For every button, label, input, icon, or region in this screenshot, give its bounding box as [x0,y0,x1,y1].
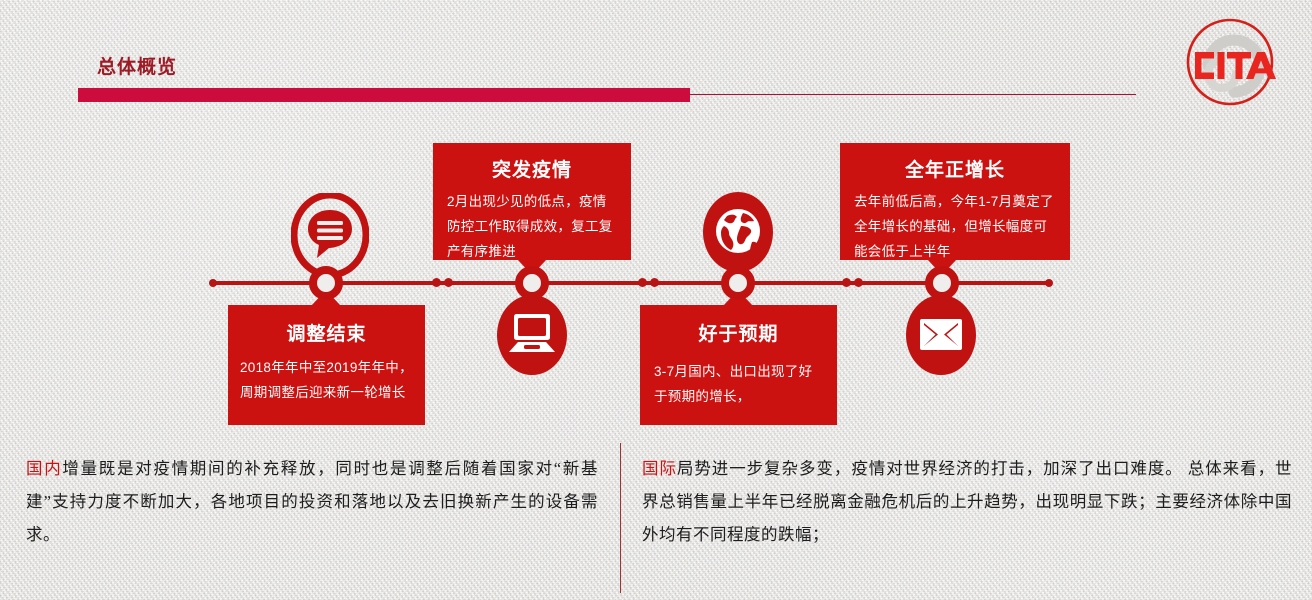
card-adjustment-end-title: 调整结束 [228,319,425,346]
timeline-dot [650,278,659,287]
laptop-icon[interactable] [495,294,569,376]
card-better-than-expected-body: 3-7月国内、出口出现了好于预期的增长， [654,360,823,410]
timeline-node-1[interactable] [309,266,343,300]
timeline-dot [854,278,863,287]
paragraph-domestic-lead: 国内 [26,459,62,478]
card-adjustment-end-body: 2018年年中至2019年年中，周期调整后迎来新一轮增长 [240,356,413,406]
card-outbreak-title: 突发疫情 [433,155,631,182]
card-adjustment-end[interactable]: 调整结束 2018年年中至2019年年中，周期调整后迎来新一轮增长 [228,305,425,425]
speech-bubble-icon[interactable] [291,193,369,277]
paragraph-domestic: 国内增量既是对疫情期间的补充释放，同时也是调整后随着国家对“新基建”支持力度不断… [26,452,598,551]
header-rule [690,94,1136,95]
paragraph-domestic-text: 增量既是对疫情期间的补充释放，同时也是调整后随着国家对“新基建”支持力度不断加大… [26,459,598,544]
card-outbreak-body: 2月出现少见的低点，疫情防控工作取得成效，复工复产有序推进 [447,190,617,265]
cita-logo [1178,10,1282,114]
timeline-node-3[interactable] [721,266,755,300]
timeline-dot [638,278,647,287]
card-full-year-growth-title: 全年正增长 [840,155,1070,182]
paragraph-international-lead: 国际 [642,459,677,478]
paragraph-international: 国际局势进一步复杂多变，疫情对世界经济的打击，加深了出口难度。 总体来看，世界总… [642,452,1292,551]
timeline-node-4[interactable] [925,266,959,300]
card-outbreak[interactable]: 突发疫情 2月出现少见的低点，疫情防控工作取得成效，复工复产有序推进 [433,143,631,260]
timeline-dot [444,278,453,287]
paragraph-international-text: 局势进一步复杂多变，疫情对世界经济的打击，加深了出口难度。 总体来看，世界总销售… [642,459,1292,544]
page-title: 总体概览 [97,52,177,79]
globe-icon[interactable] [701,190,775,274]
timeline-cap-right [1045,279,1053,287]
card-full-year-growth[interactable]: 全年正增长 去年前低后高，今年1-7月奠定了全年增长的基础，但增长幅度可能会低于… [840,143,1070,260]
timeline-dot [432,278,441,287]
paragraph-divider [620,443,621,593]
header-accent-bar [78,88,690,102]
timeline-dot [842,278,851,287]
card-better-than-expected[interactable]: 好于预期 3-7月国内、出口出现了好于预期的增长， [640,305,837,425]
card-better-than-expected-title: 好于预期 [640,319,837,346]
timeline-node-2[interactable] [515,266,549,300]
card-full-year-growth-body: 去年前低后高，今年1-7月奠定了全年增长的基础，但增长幅度可能会低于上半年 [854,190,1056,265]
envelope-icon[interactable] [904,294,978,376]
timeline-cap-left [209,279,217,287]
slide-canvas: 总体概览 [0,0,1312,600]
